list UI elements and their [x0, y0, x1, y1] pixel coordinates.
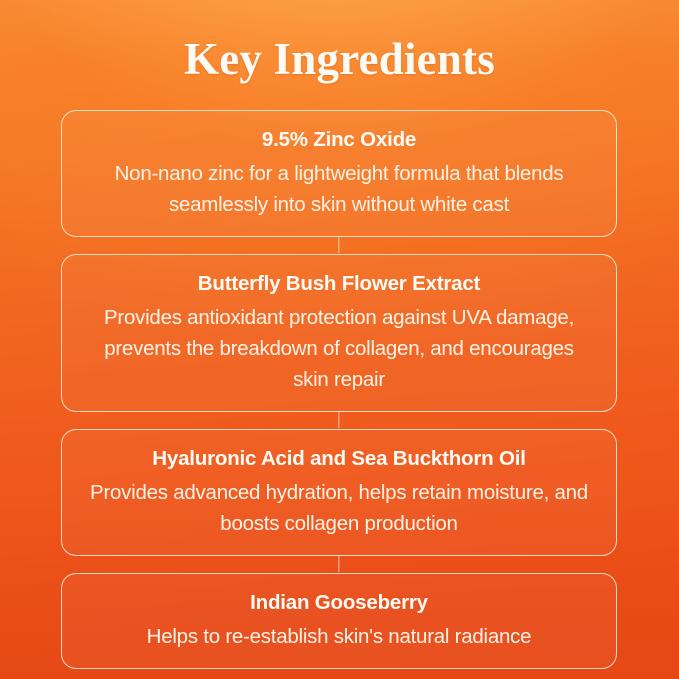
ingredient-title: Hyaluronic Acid and Sea Buckthorn Oil [88, 444, 590, 474]
page-title: Key Ingredients [0, 33, 679, 85]
key-ingredients-poster: Key Ingredients 9.5% Zinc Oxide Non-nano… [0, 0, 679, 679]
card-connector-line [338, 411, 339, 428]
ingredient-description: Non-nano zinc for a lightweight formula … [88, 158, 590, 220]
ingredient-card: Indian Gooseberry Helps to re-establish … [61, 573, 617, 669]
ingredient-card: Hyaluronic Acid and Sea Buckthorn Oil Pr… [61, 429, 617, 556]
ingredient-card-list: 9.5% Zinc Oxide Non-nano zinc for a ligh… [61, 110, 617, 669]
ingredient-card: Butterfly Bush Flower Extract Provides a… [61, 254, 617, 412]
card-connector-line [338, 236, 339, 253]
ingredient-description: Helps to re-establish skin's natural rad… [88, 621, 590, 652]
ingredient-title: Indian Gooseberry [88, 588, 590, 618]
ingredient-title: 9.5% Zinc Oxide [88, 125, 590, 155]
ingredient-description: Provides advanced hydration, helps retai… [88, 477, 590, 539]
ingredient-description: Provides antioxidant protection against … [88, 302, 590, 395]
card-connector-line [338, 555, 339, 572]
ingredient-card: 9.5% Zinc Oxide Non-nano zinc for a ligh… [61, 110, 617, 237]
ingredient-title: Butterfly Bush Flower Extract [88, 269, 590, 299]
